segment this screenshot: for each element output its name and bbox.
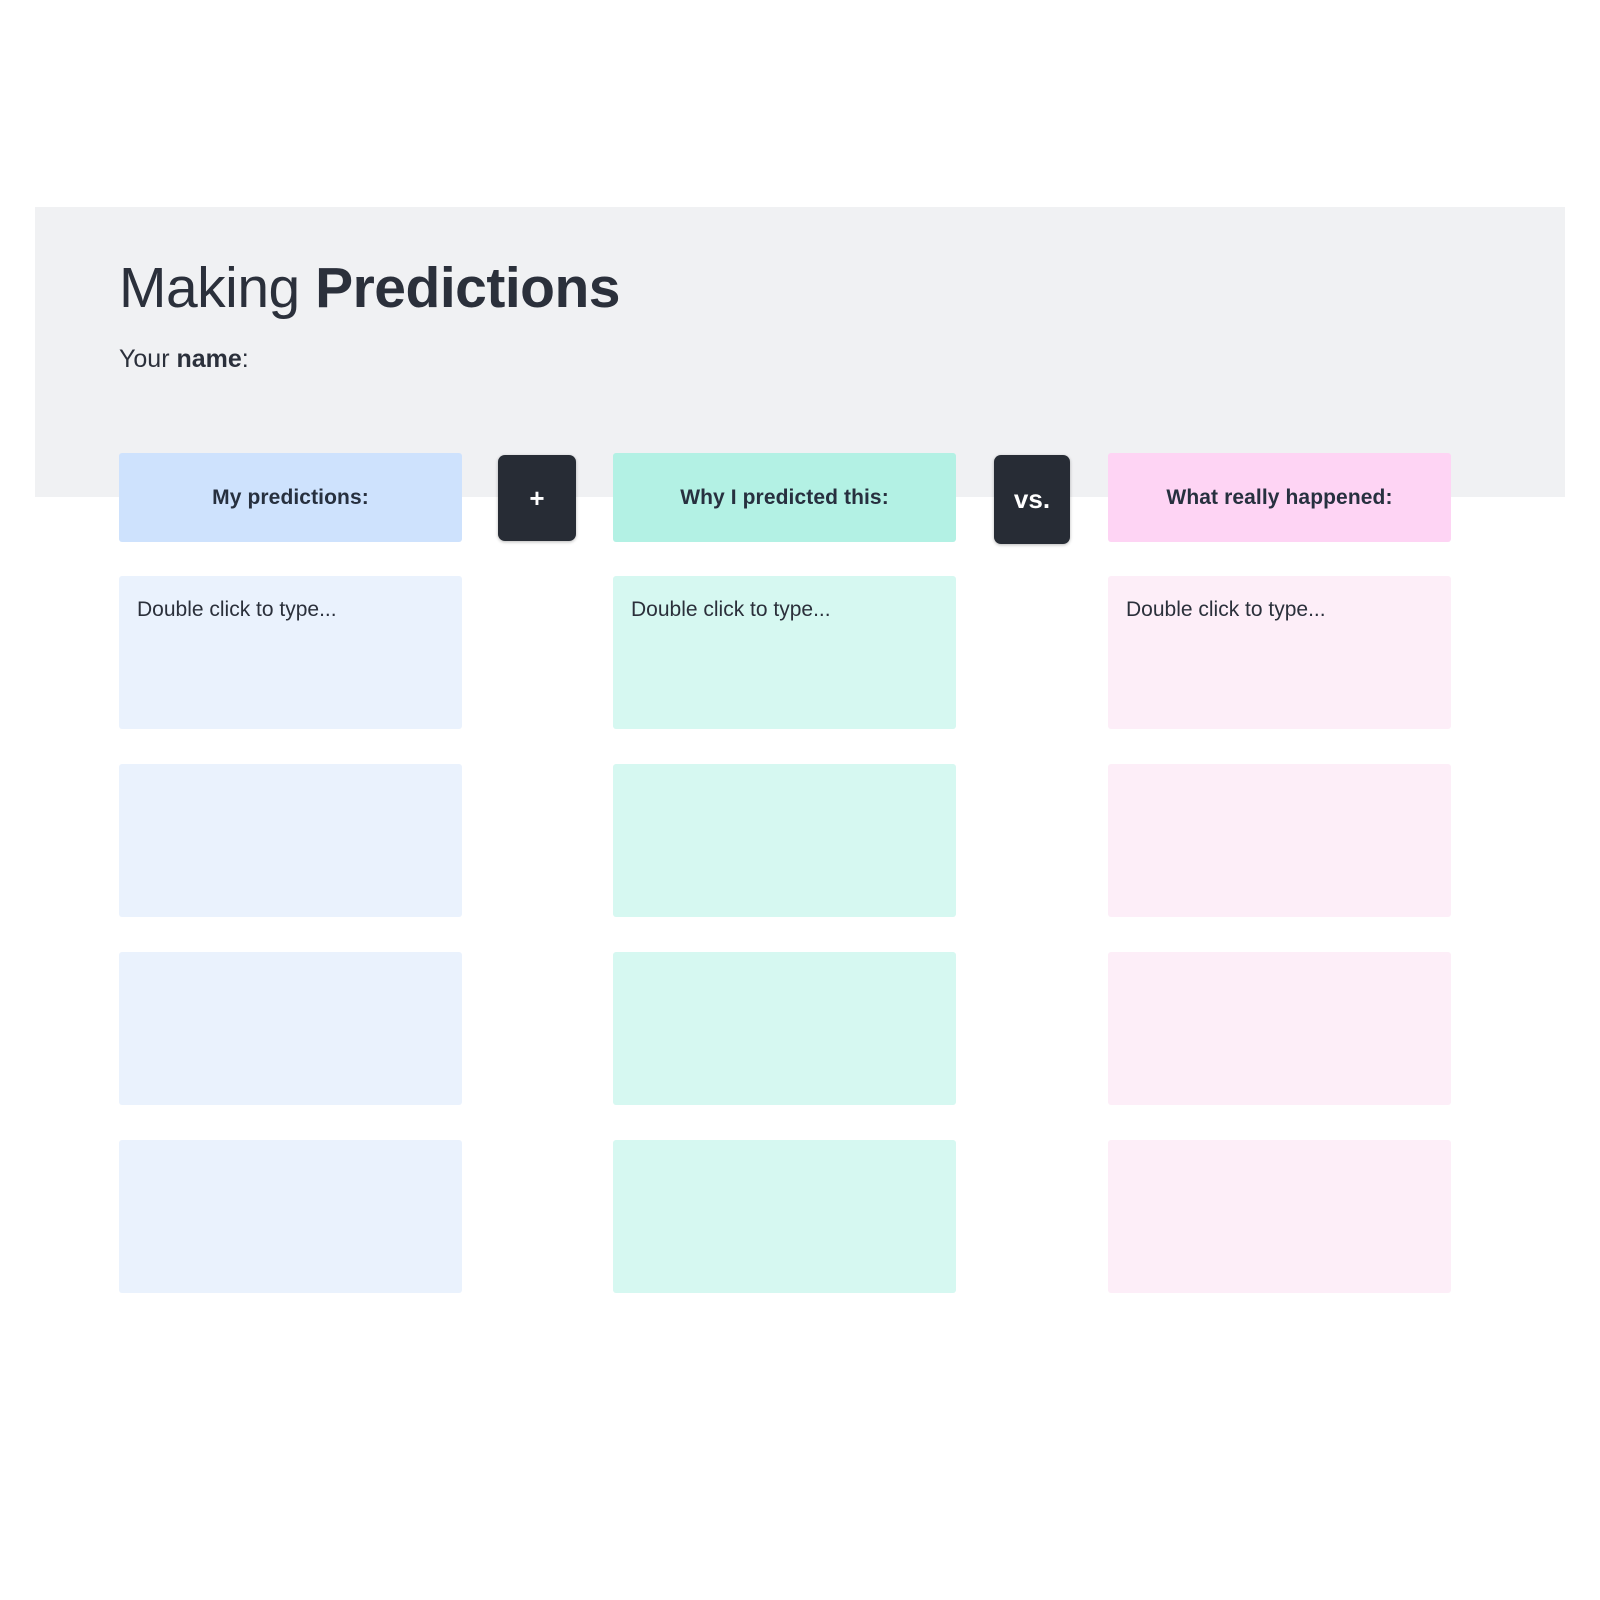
card-placeholder: Double click to type... (137, 596, 444, 623)
page-title: Making Predictions (119, 257, 620, 321)
card-placeholder: Double click to type... (1126, 596, 1433, 623)
page-title-light: Making (119, 256, 315, 320)
sticky-card[interactable] (613, 1140, 956, 1293)
column-header-label: What really happened: (1166, 486, 1392, 510)
vs-label: vs. (1014, 484, 1050, 515)
plus-icon: + (529, 483, 544, 514)
sticky-card[interactable]: Double click to type... (1108, 576, 1451, 729)
name-prompt[interactable]: Your name: (119, 345, 249, 374)
column-header-why-i-predicted-this[interactable]: Why I predicted this: (613, 453, 956, 542)
sticky-card[interactable] (1108, 1140, 1451, 1293)
column-header-my-predictions[interactable]: My predictions: (119, 453, 462, 542)
name-prompt-bold: name (176, 345, 241, 373)
plus-icon-badge[interactable]: + (498, 455, 576, 541)
name-prompt-suffix: : (242, 345, 249, 373)
sticky-card[interactable] (119, 952, 462, 1105)
card-placeholder: Double click to type... (631, 596, 938, 623)
vs-badge[interactable]: vs. (994, 455, 1070, 544)
name-prompt-prefix: Your (119, 345, 176, 373)
column-what-really-happened: Double click to type... (1108, 576, 1451, 1328)
column-my-predictions: Double click to type... (119, 576, 462, 1328)
page-title-bold: Predictions (315, 256, 620, 320)
sticky-card[interactable] (613, 952, 956, 1105)
sticky-card[interactable] (1108, 952, 1451, 1105)
sticky-card[interactable]: Double click to type... (613, 576, 956, 729)
sticky-card[interactable] (613, 764, 956, 917)
column-header-label: Why I predicted this: (680, 486, 889, 510)
sticky-card[interactable]: Double click to type... (119, 576, 462, 729)
column-header-label: My predictions: (212, 486, 369, 510)
sticky-card[interactable] (119, 764, 462, 917)
column-header-what-really-happened[interactable]: What really happened: (1108, 453, 1451, 542)
column-why-i-predicted-this: Double click to type... (613, 576, 956, 1328)
sticky-card[interactable] (1108, 764, 1451, 917)
sticky-card[interactable] (119, 1140, 462, 1293)
